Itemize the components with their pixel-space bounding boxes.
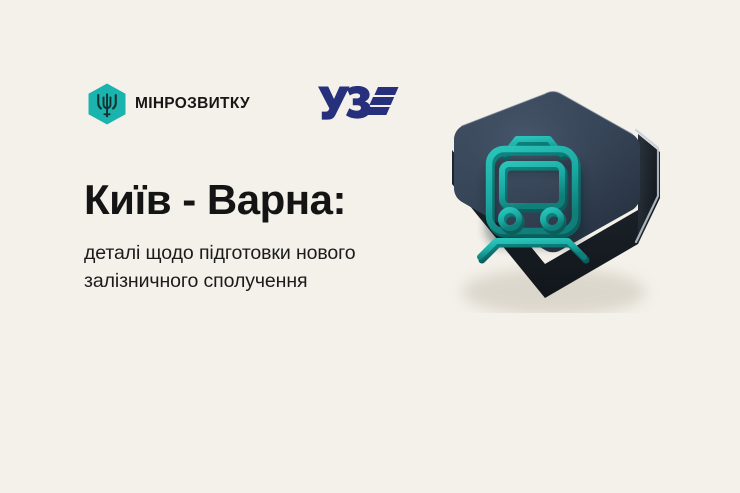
logo-row: МІНРОЗВИТКУ [88, 82, 250, 126]
ministry-label: МІНРОЗВИТКУ [135, 96, 250, 112]
page-subtitle: деталі щодо підготовки нового залізнично… [84, 240, 356, 295]
uz-ukrzaliznytsia-icon [316, 80, 402, 124]
ukraine-trident-hexagon-icon [88, 83, 126, 125]
page-title: Київ - Варна: [84, 178, 346, 223]
subtitle-line-2: залізничного сполучення [84, 268, 356, 296]
ministry-logo: МІНРОЗВИТКУ [88, 83, 250, 125]
subtitle-line-1: деталі щодо підготовки нового [84, 240, 356, 268]
poster-canvas: МІНРОЗВИТКУ Київ - Варна: деталі щодо пі… [0, 0, 740, 493]
train-badge-artwork [432, 78, 682, 313]
